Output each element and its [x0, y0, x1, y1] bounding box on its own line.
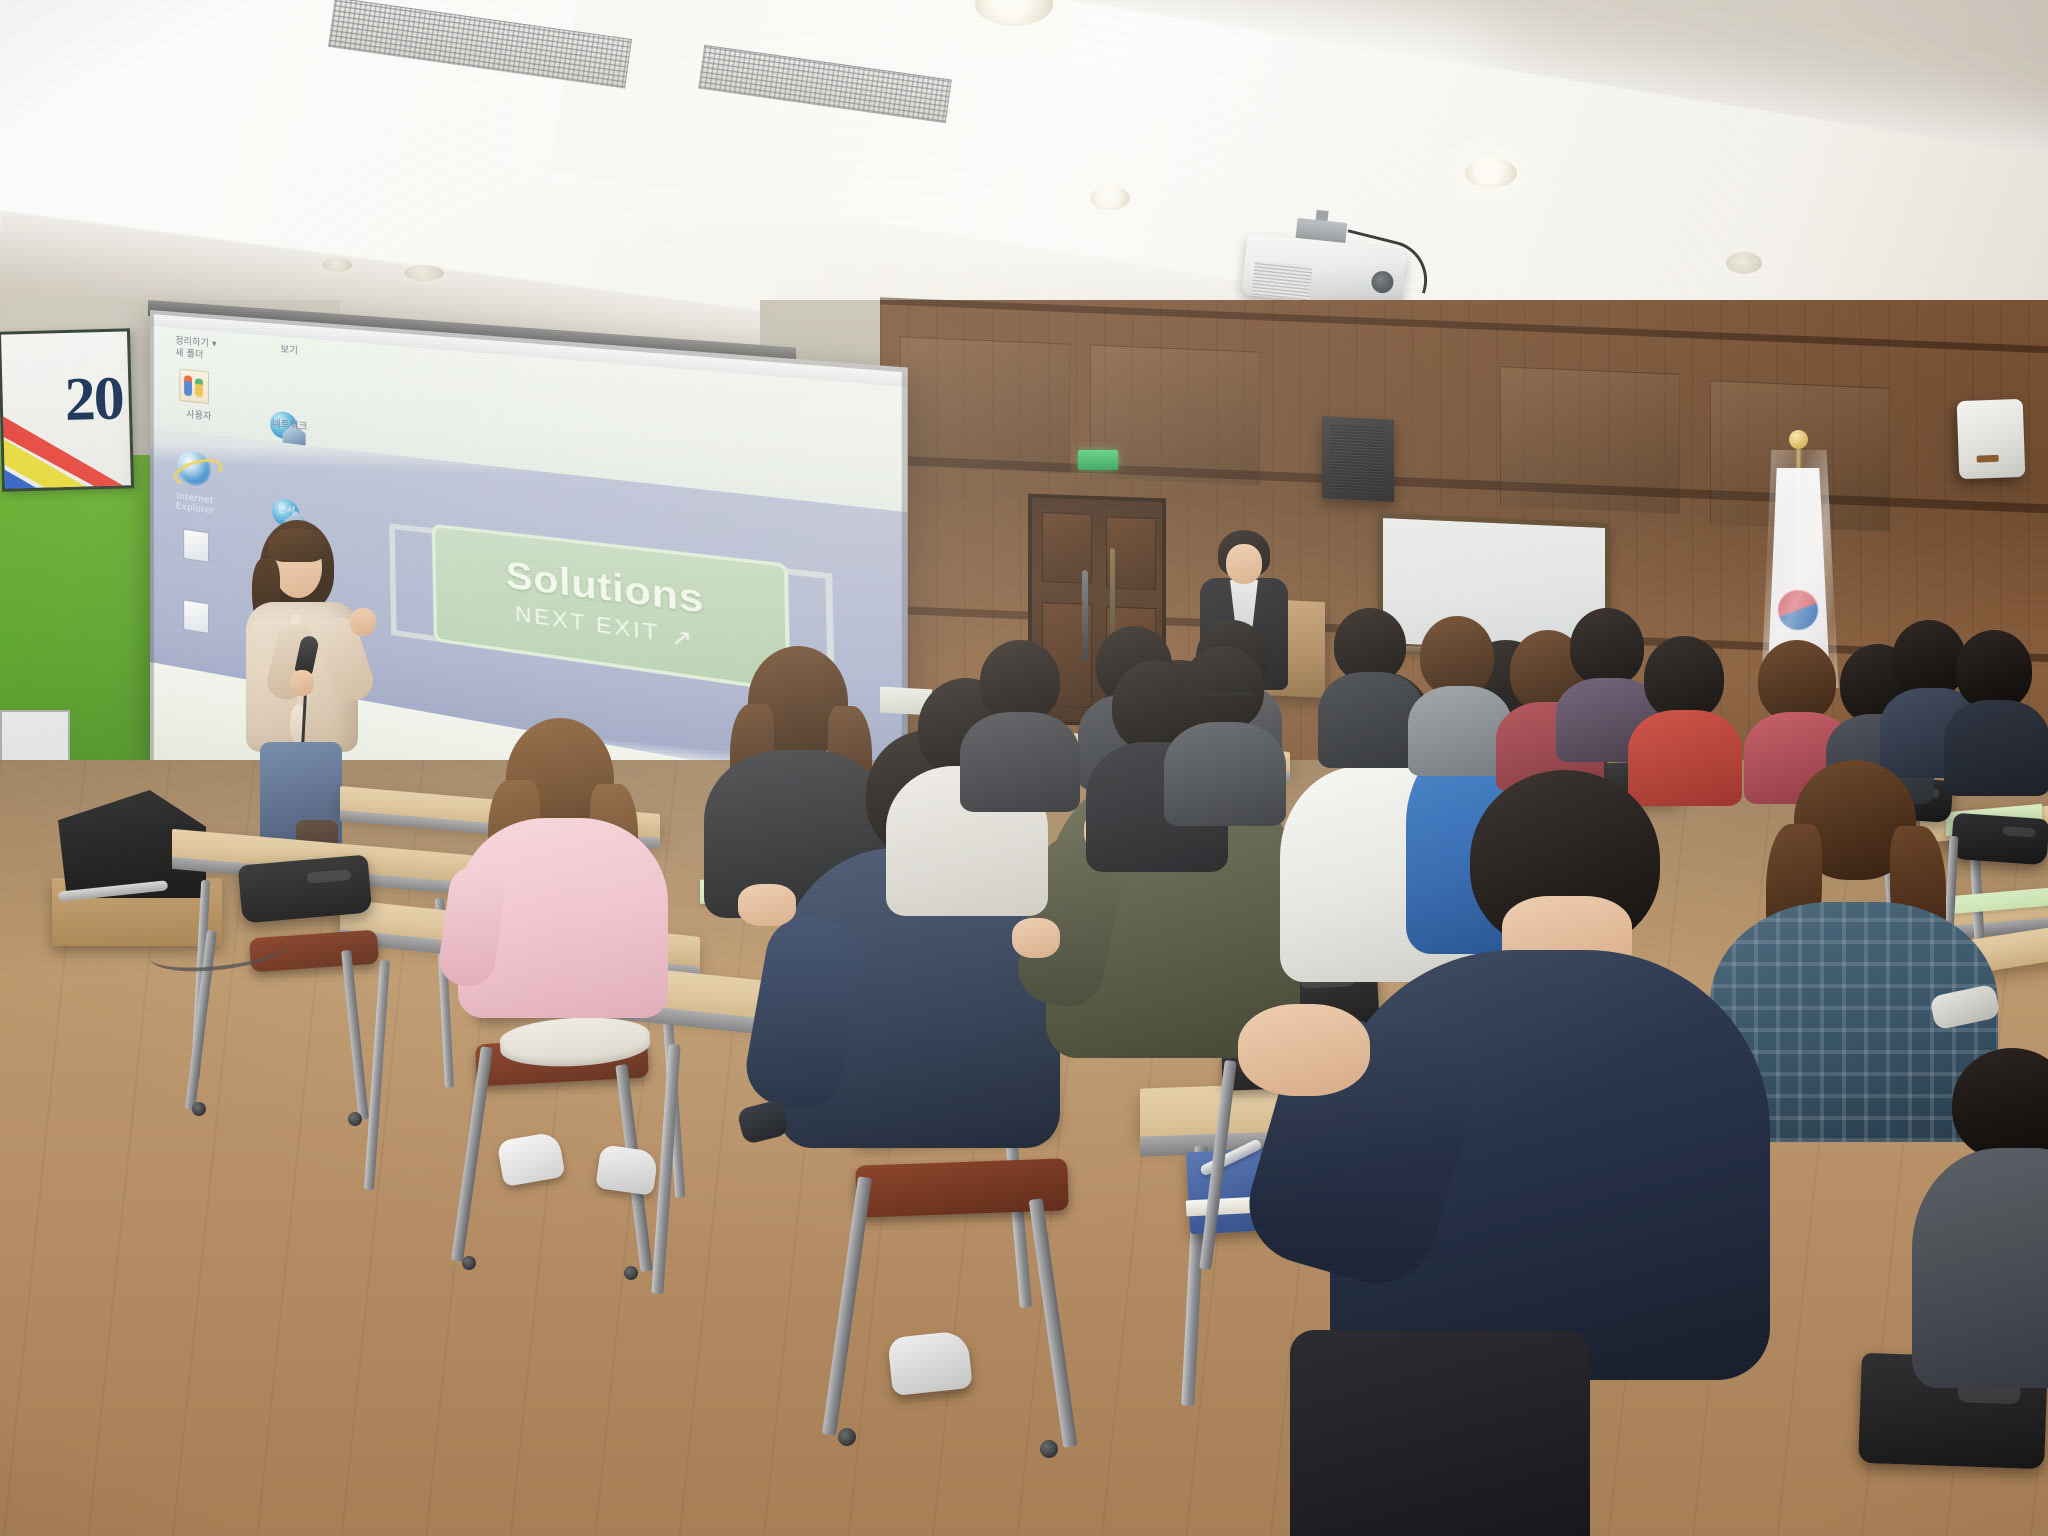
staff-face [1226, 544, 1262, 584]
banner-number: 20 [64, 364, 124, 436]
arrow-up-right-icon: ↗ [670, 622, 695, 654]
people-folder-icon [179, 369, 209, 404]
projector-vent-grille [1251, 261, 1312, 301]
attendee-rear-4 [1408, 616, 1508, 766]
ie-icon [177, 449, 211, 488]
presenter-hand-right [290, 670, 314, 696]
anniversary-banner-left: 20 [0, 328, 134, 491]
chair-caster [462, 1256, 476, 1270]
attendee-hand [738, 884, 796, 926]
icon-label-people: 사용자 [171, 408, 227, 424]
glasses-icon [1188, 692, 1254, 706]
chair-caster [192, 1102, 206, 1116]
window-toolbar-text-3: 보기 [280, 345, 355, 362]
exit-sign-icon [1078, 450, 1118, 470]
document-icon [183, 599, 209, 634]
downlight-icon [1726, 252, 1762, 274]
flag-finial-icon [1789, 430, 1808, 449]
chair-back[interactable] [238, 854, 373, 923]
ceiling-projector [1241, 217, 1408, 311]
downlight-icon [322, 258, 352, 272]
presenter-hand-left [350, 608, 376, 636]
document-icon [183, 529, 209, 563]
chair-caster [624, 1266, 638, 1280]
attendee-hands-clasped [1238, 1004, 1370, 1096]
black-wall-speaker [1322, 416, 1394, 502]
downlight-icon [404, 265, 444, 281]
attendee-front-navy [1330, 770, 1770, 1470]
attendee-glasses [1164, 646, 1284, 816]
downlight-icon [1090, 186, 1130, 210]
white-wall-speaker [1957, 399, 2026, 479]
attendee-grey-hoodie [1912, 1048, 2048, 1378]
presenter-hair-fringe [268, 528, 326, 562]
icon-label-ie: Internet Explorer [160, 489, 231, 519]
attendee-rear-left [960, 640, 1080, 800]
attendee-rear-2 [1318, 608, 1422, 758]
seminar-room-photo: 20 인재 정리하기 ▾ 새 폴더 보기 사용자 네트워크 [0, 0, 2048, 1536]
downlight-icon [1465, 158, 1517, 188]
chair-caster [348, 1112, 362, 1126]
shoe [887, 1330, 973, 1396]
chair-caster [838, 1428, 856, 1446]
chair-caster [1040, 1440, 1058, 1458]
attendee-hand [1012, 918, 1060, 958]
attendee-pink-hoodie [440, 718, 670, 1048]
attendee-trousers [1290, 1330, 1590, 1536]
